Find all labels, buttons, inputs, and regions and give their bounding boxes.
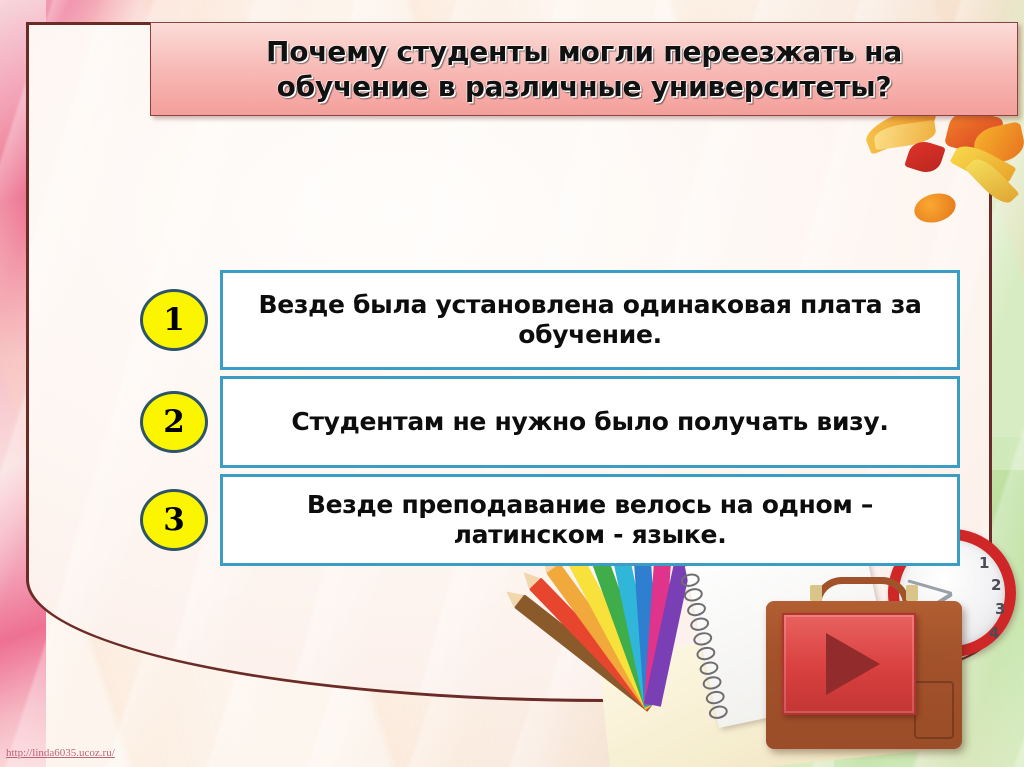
answer-number-badge-2[interactable]: 2 [140, 391, 208, 453]
answer-option-text: Везде преподавание велось на одном – лат… [237, 490, 943, 550]
briefcase-pocket [914, 681, 954, 739]
clock-number: 3 [995, 600, 1005, 618]
answer-options-list: 1 Везде была установлена одинаковая плат… [140, 270, 960, 572]
video-play-button[interactable] [782, 613, 916, 715]
answer-option-2[interactable]: Студентам не нужно было получать визу. [220, 376, 960, 468]
answer-option-text: Везде была установлена одинаковая плата … [237, 290, 943, 350]
answer-option-1[interactable]: Везде была установлена одинаковая плата … [220, 270, 960, 370]
title-line-1: Почему студенты могли переезжать на [266, 34, 902, 69]
answer-row[interactable]: 3 Везде преподавание велось на одном – л… [140, 474, 960, 566]
answer-number-label: 3 [163, 505, 185, 536]
play-icon [826, 633, 880, 695]
title-line-2: обучение в различные университеты? [266, 69, 902, 104]
clock-number: 1 [979, 554, 989, 572]
page-title: Почему студенты могли переезжать на обуч… [266, 34, 902, 104]
title-banner: Почему студенты могли переезжать на обуч… [150, 22, 1018, 116]
answer-option-3[interactable]: Везде преподавание велось на одном – лат… [220, 474, 960, 566]
answer-number-badge-3[interactable]: 3 [140, 489, 208, 551]
answer-number-label: 1 [163, 305, 185, 336]
briefcase-clasp [810, 585, 822, 601]
answer-row[interactable]: 2 Студентам не нужно было получать визу. [140, 376, 960, 468]
source-watermark-link[interactable]: http://linda6035.ucoz.ru/ [6, 747, 115, 759]
answer-number-badge-1[interactable]: 1 [140, 289, 208, 351]
answer-row[interactable]: 1 Везде была установлена одинаковая плат… [140, 270, 960, 370]
clock-number: 4 [989, 624, 999, 642]
answer-option-text: Студентам не нужно было получать визу. [291, 407, 888, 437]
presentation-slide: Почему студенты могли переезжать на обуч… [0, 0, 1024, 767]
clock-number: 2 [991, 576, 1001, 594]
briefcase-clasp [906, 585, 918, 601]
answer-number-label: 2 [163, 407, 185, 438]
